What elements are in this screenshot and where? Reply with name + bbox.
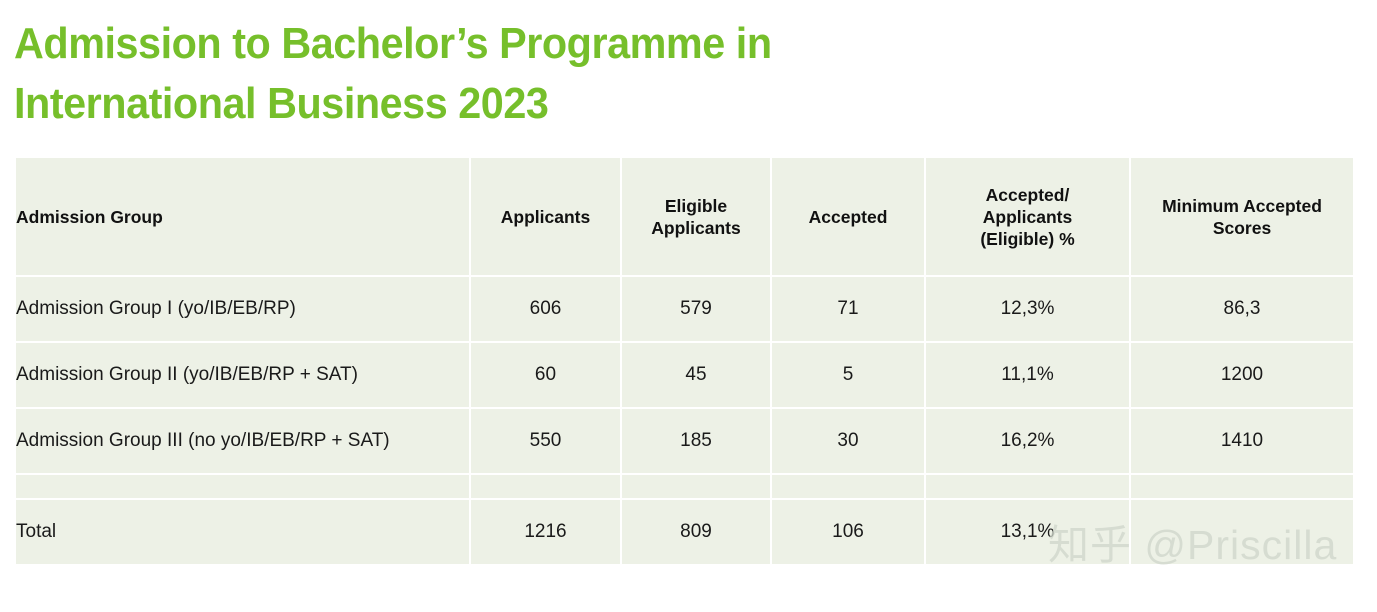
strip-cell	[470, 474, 621, 499]
page-title: Admission to Bachelor’s Programme in Int…	[14, 14, 954, 134]
table-header: Admission Group Applicants Eligible Appl…	[16, 158, 1353, 276]
table-row: Admission Group II (yo/IB/EB/RP + SAT) 6…	[16, 342, 1353, 408]
cell-eligible-total: 809	[621, 499, 771, 565]
strip-cell	[16, 474, 470, 499]
cell-accepted: 30	[771, 408, 925, 474]
column-header-eligible-applicants: Eligible Applicants	[621, 158, 771, 276]
column-header-accepted-over-applicants: Accepted/ Applicants (Eligible) %	[925, 158, 1130, 276]
cell-applicants: 550	[470, 408, 621, 474]
cell-applicants-total: 1216	[470, 499, 621, 565]
cell-group: Admission Group III (no yo/IB/EB/RP + SA…	[16, 408, 470, 474]
cell-applicants: 60	[470, 342, 621, 408]
column-header-admission-group: Admission Group	[16, 158, 470, 276]
cell-eligible: 185	[621, 408, 771, 474]
strip-cell	[925, 474, 1130, 499]
cell-accepted: 5	[771, 342, 925, 408]
table-row: Admission Group I (yo/IB/EB/RP) 606 579 …	[16, 276, 1353, 342]
cell-applicants: 606	[470, 276, 621, 342]
cell-group-total: Total	[16, 499, 470, 565]
cell-min-score: 1200	[1130, 342, 1353, 408]
table-body: Admission Group I (yo/IB/EB/RP) 606 579 …	[16, 276, 1353, 565]
cell-group: Admission Group I (yo/IB/EB/RP)	[16, 276, 470, 342]
strip-cell	[1130, 474, 1353, 499]
cell-ratio: 16,2%	[925, 408, 1130, 474]
cell-accepted: 71	[771, 276, 925, 342]
table-row: Admission Group III (no yo/IB/EB/RP + SA…	[16, 408, 1353, 474]
strip-cell	[621, 474, 771, 499]
cell-eligible: 45	[621, 342, 771, 408]
total-separator-strip	[16, 474, 1353, 499]
cell-eligible: 579	[621, 276, 771, 342]
cell-ratio-total: 13,1%	[925, 499, 1130, 565]
column-header-minimum-accepted-scores: Minimum Accepted Scores	[1130, 158, 1353, 276]
cell-min-score: 86,3	[1130, 276, 1353, 342]
cell-ratio: 11,1%	[925, 342, 1130, 408]
column-header-accepted: Accepted	[771, 158, 925, 276]
cell-min-score-total	[1130, 499, 1353, 565]
column-header-applicants: Applicants	[470, 158, 621, 276]
table-header-row: Admission Group Applicants Eligible Appl…	[16, 158, 1353, 276]
strip-cell	[771, 474, 925, 499]
cell-accepted-total: 106	[771, 499, 925, 565]
cell-min-score: 1410	[1130, 408, 1353, 474]
table-row-total: Total 1216 809 106 13,1%	[16, 499, 1353, 565]
admission-statistics-table: Admission Group Applicants Eligible Appl…	[16, 158, 1353, 566]
cell-ratio: 12,3%	[925, 276, 1130, 342]
cell-group: Admission Group II (yo/IB/EB/RP + SAT)	[16, 342, 470, 408]
